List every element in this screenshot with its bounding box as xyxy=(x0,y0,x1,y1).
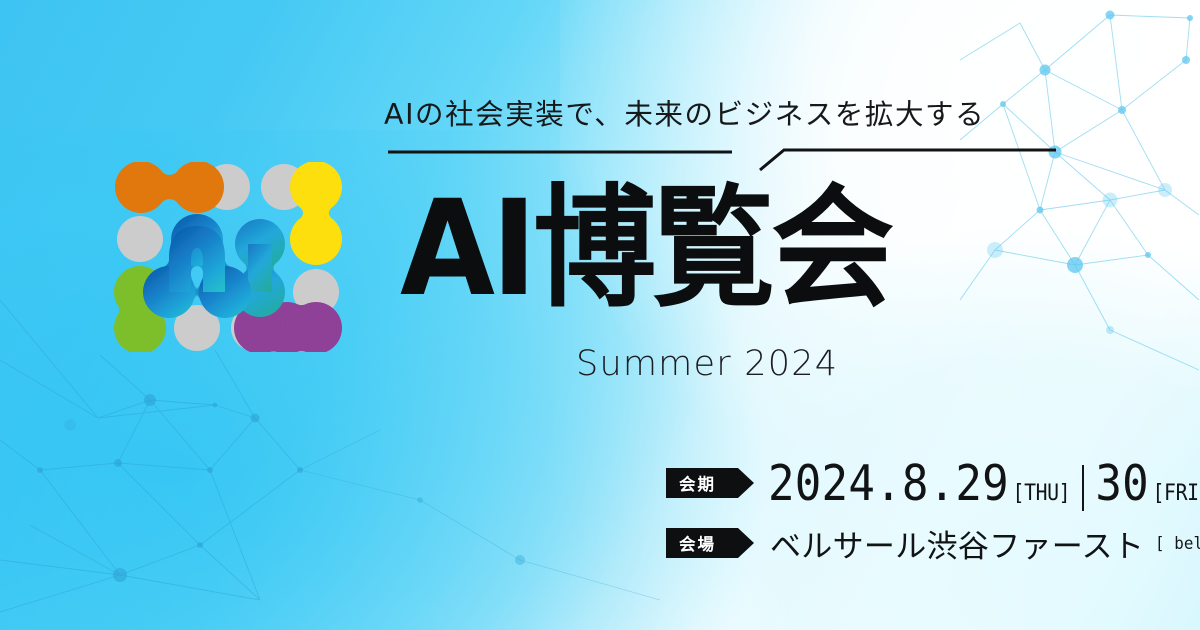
date-tag: 会期 xyxy=(666,468,754,498)
date-day1-dow: [THU] xyxy=(1013,481,1071,506)
tagline: AIの社会実装で、未来のビジネスを拡大する xyxy=(384,92,1064,133)
date-row: 会期 2024.8.29[THU]30[FRI] xyxy=(666,458,1200,508)
date-day2: 30 xyxy=(1095,455,1149,512)
logo-mark xyxy=(112,162,344,352)
logo-shape-yellow xyxy=(290,162,342,265)
title-main-artwork: AI博覧会 xyxy=(400,176,1080,326)
venue-tag: 会場 xyxy=(666,528,754,558)
event-banner: AIの社会実装で、未来のビジネスを拡大する AI博覧会 Summer 2024 … xyxy=(0,0,1200,630)
logo-shape-orange xyxy=(115,162,224,213)
venue-name-en: [ bellesalle shibuya first ] xyxy=(1155,534,1200,553)
info-block: 会期 2024.8.29[THU]30[FRI] 会場 ベルサール渋谷ファースト… xyxy=(666,458,1200,566)
date-day1: 2024.8.29 xyxy=(768,455,1009,512)
tagline-rule xyxy=(380,142,1062,172)
date-value: 2024.8.29[THU]30[FRI] xyxy=(768,459,1200,508)
date-separator xyxy=(1082,465,1084,511)
date-day2-dow: [FRI] xyxy=(1153,481,1200,506)
title-sub: Summer 2024 xyxy=(576,344,838,384)
title-main-text: AI博覧会 xyxy=(400,176,894,326)
banner-content: AIの社会実装で、未来のビジネスを拡大する AI博覧会 Summer 2024 … xyxy=(376,0,1076,630)
venue-row: 会場 ベルサール渋谷ファースト [ bellesalle shibuya fir… xyxy=(666,520,1200,566)
venue-name-ja: ベルサール渋谷ファースト xyxy=(770,521,1144,566)
